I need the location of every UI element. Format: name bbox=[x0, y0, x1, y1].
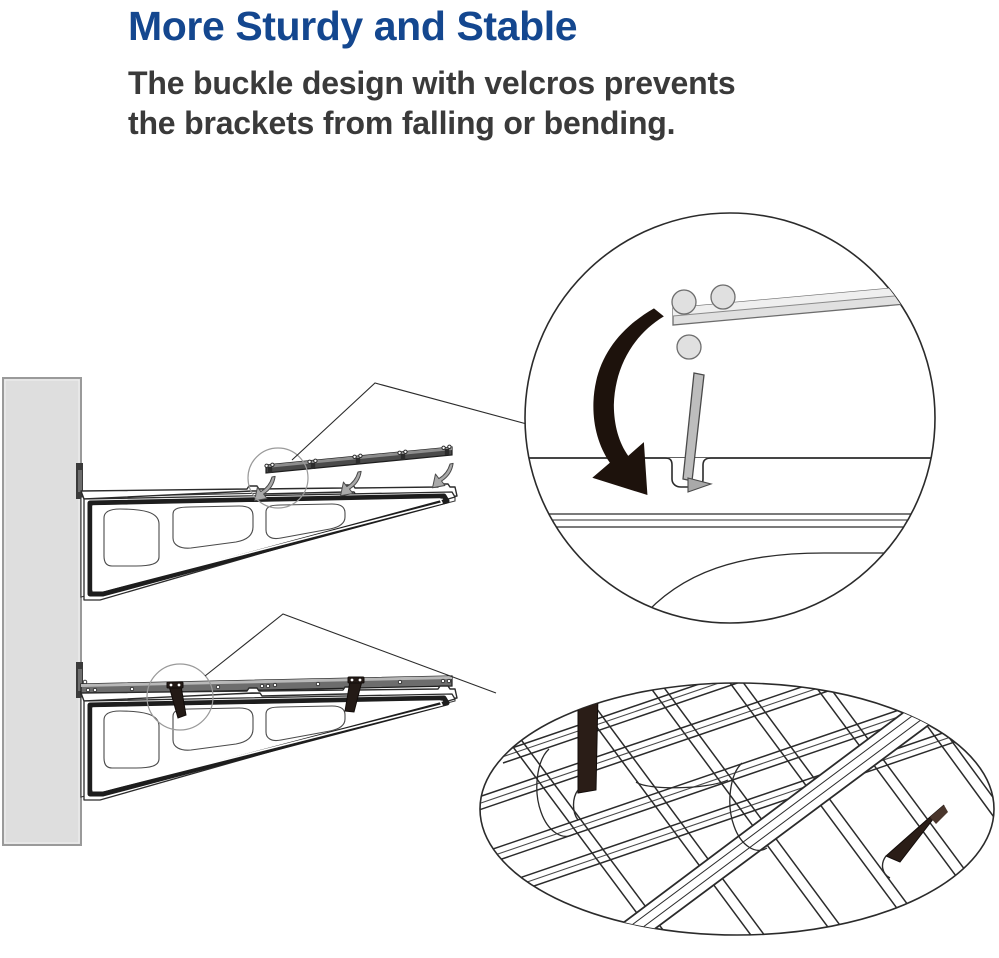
callout-pin-3 bbox=[677, 335, 701, 359]
callout-buckle-insert bbox=[520, 213, 950, 623]
lower-bracket-assembly bbox=[76, 662, 457, 800]
callout-pin-1 bbox=[672, 290, 696, 314]
product-illustration bbox=[0, 0, 999, 958]
upper-leader-line bbox=[292, 383, 560, 460]
callout-installed-rack bbox=[455, 578, 999, 958]
infographic-page: More Sturdy and Stable The buckle design… bbox=[0, 0, 999, 958]
upper-cutout-1 bbox=[104, 509, 159, 566]
wall-panel bbox=[3, 378, 81, 845]
upper-bracket-assembly bbox=[76, 445, 457, 600]
callout-pin-2 bbox=[711, 285, 735, 309]
lower-cutout-1 bbox=[104, 711, 159, 768]
